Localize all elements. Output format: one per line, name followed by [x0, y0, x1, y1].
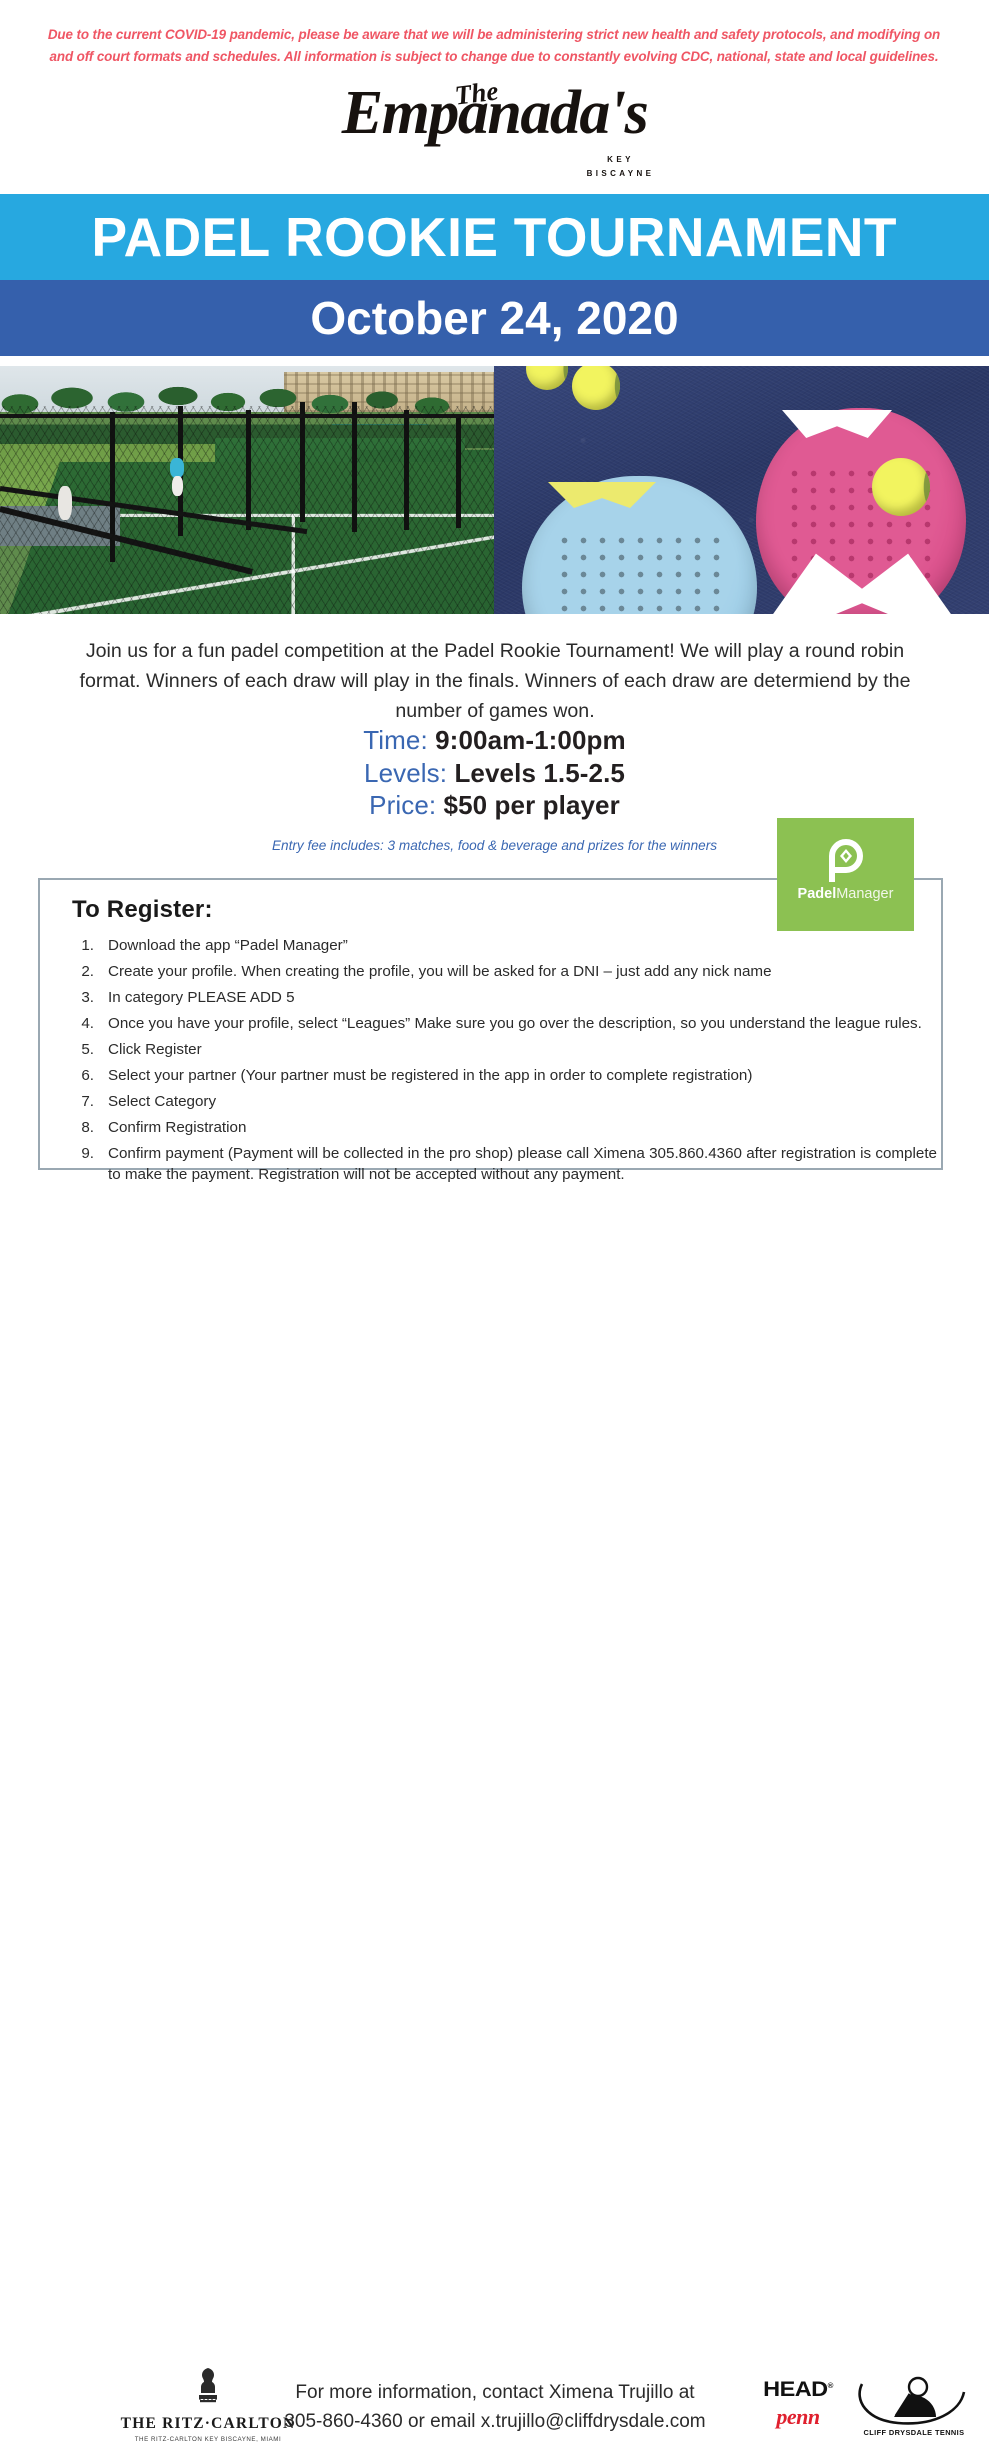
event-description: Join us for a fun padel competition at t… — [70, 636, 920, 726]
detail-time: Time: 9:00am-1:00pm — [0, 724, 989, 757]
pink-padel-racket — [756, 408, 966, 614]
register-step-number: 3. — [68, 987, 94, 1009]
register-step-number: 4. — [68, 1013, 94, 1035]
contact-line-2: 305-860-4360 or email x.trujillo@cliffdr… — [250, 2407, 740, 2436]
event-date: October 24, 2020 — [310, 295, 678, 341]
register-step: 5.Click Register — [64, 1039, 944, 1061]
register-step-number: 2. — [68, 961, 94, 983]
detail-levels-label: Levels: — [364, 758, 447, 788]
cliff-drysdale-player-icon — [852, 2376, 976, 2428]
cliff-drysdale-wordmark: CLIFF DRYSDALE TENNIS — [852, 2428, 976, 2437]
page-title: PADEL ROOKIE TOURNAMENT — [92, 210, 898, 265]
register-step: 8.Confirm Registration — [64, 1117, 944, 1139]
register-step-text: Select Category — [108, 1093, 216, 1110]
cliff-drysdale-tennis-logo: CLIFF DRYSDALE TENNIS — [852, 2376, 976, 2440]
sponsor-logos: HEAD® penn CLIFF DRYSDALE TENNIS — [748, 2376, 980, 2442]
detail-time-value: 9:00am-1:00pm — [435, 725, 626, 755]
tournament-title-band: PADEL ROOKIE TOURNAMENT — [0, 194, 989, 280]
fence-mesh — [0, 406, 494, 614]
brand-sub-biscayne: BISCAYNE — [126, 169, 989, 178]
ritz-carlton-property: THE RITZ-CARLTON KEY BISCAYNE, MIAMI — [88, 2436, 328, 2443]
brand-sub-key: KEY — [126, 155, 989, 164]
tennis-ball-on-racket — [872, 458, 930, 516]
register-step: 1.Download the app “Padel Manager” — [64, 935, 944, 957]
ritz-carlton-lion-crest-icon — [191, 2366, 225, 2408]
padel-manager-wordmark: PadelManager — [777, 886, 914, 902]
padel-manager-padel: Padel — [798, 886, 837, 902]
register-step-text: Select your partner (Your partner must b… — [108, 1067, 752, 1084]
register-step: 2.Create your profile. When creating the… — [64, 961, 944, 983]
register-steps-list: 1.Download the app “Padel Manager”2.Crea… — [64, 935, 944, 1190]
register-step-number: 9. — [68, 1143, 94, 1165]
event-details: Time: 9:00am-1:00pm Levels: Levels 1.5-2… — [0, 724, 989, 822]
photo-strip — [0, 366, 989, 614]
register-step: 4.Once you have your profile, select “Le… — [64, 1013, 944, 1035]
padel-manager-logo: PadelManager — [777, 818, 914, 931]
padel-manager-manager: Manager — [836, 886, 893, 902]
register-step: 3.In category PLEASE ADD 5 — [64, 987, 944, 1009]
penn-logo: penn — [750, 2404, 846, 2430]
footer: THE RITZ·CARLTON THE RITZ-CARLTON KEY BI… — [0, 1180, 989, 1280]
player-midcourt-legs — [172, 476, 183, 496]
tournament-date-band: October 24, 2020 — [0, 280, 989, 356]
detail-levels: Levels: Levels 1.5-2.5 — [0, 757, 989, 790]
detail-levels-value: Levels 1.5-2.5 — [454, 758, 625, 788]
register-step-number: 8. — [68, 1117, 94, 1139]
register-step-text: Confirm payment (Payment will be collect… — [108, 1145, 937, 1184]
register-step: 6.Select your partner (Your partner must… — [64, 1065, 944, 1087]
contact-info: For more information, contact Ximena Tru… — [250, 2378, 740, 2436]
register-heading: To Register: — [72, 896, 213, 924]
detail-price-value: $50 per player — [444, 790, 620, 820]
player-midcourt — [170, 458, 184, 478]
padel-courts-photo — [0, 366, 494, 614]
register-step-text: Download the app “Padel Manager” — [108, 937, 348, 954]
detail-price: Price: $50 per player — [0, 789, 989, 822]
register-step-text: In category PLEASE ADD 5 — [108, 989, 295, 1006]
register-step-number: 6. — [68, 1065, 94, 1087]
register-step-text: Click Register — [108, 1041, 202, 1058]
register-step-number: 1. — [68, 935, 94, 957]
register-step-text: Once you have your profile, select “Leag… — [108, 1015, 922, 1032]
empanadas-logo: Empanada's The KEY BISCAYNE — [0, 76, 989, 188]
player-foreground — [58, 486, 72, 520]
register-step-number: 5. — [68, 1039, 94, 1061]
head-logo: HEAD® — [744, 2378, 852, 2402]
register-step-text: Create your profile. When creating the p… — [108, 963, 772, 980]
padel-manager-mark-icon — [826, 838, 866, 882]
register-step-text: Confirm Registration — [108, 1119, 246, 1136]
register-step: 7.Select Category — [64, 1091, 944, 1113]
detail-time-label: Time: — [363, 725, 428, 755]
padel-rackets-photo — [494, 366, 989, 614]
contact-line-1: For more information, contact Ximena Tru… — [250, 2378, 740, 2407]
register-step-number: 7. — [68, 1091, 94, 1113]
head-wordmark: HEAD — [763, 2378, 827, 2401]
detail-price-label: Price: — [369, 790, 436, 820]
